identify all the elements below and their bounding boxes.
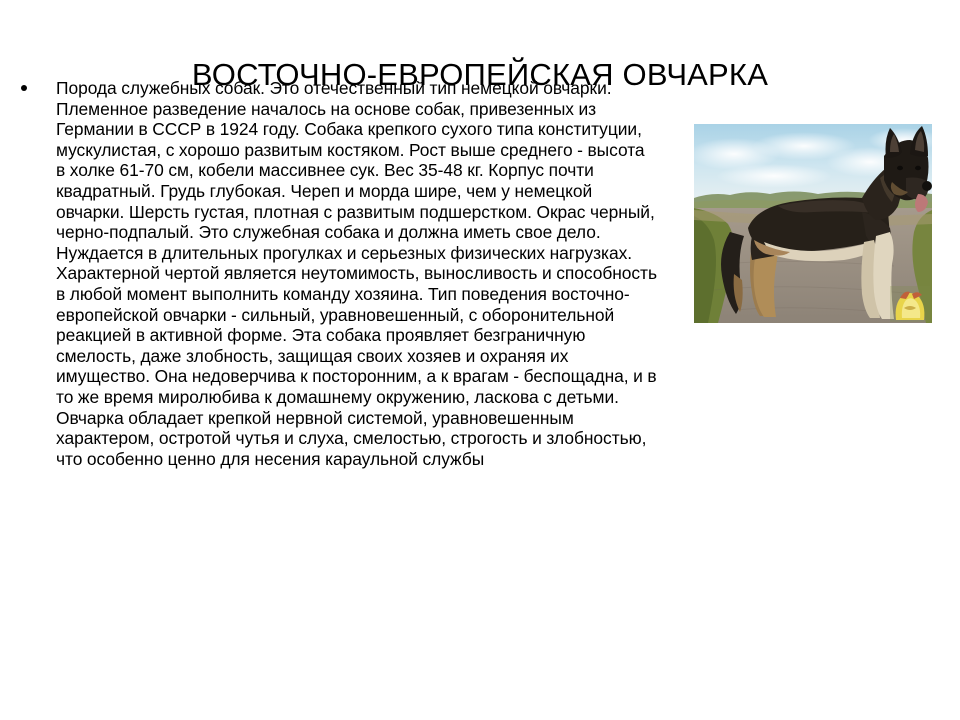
content-body: Порода служебных собак. Это отечественны… [18, 78, 658, 469]
slide: ВОСТОЧНО-ЕВРОПЕЙСКАЯ ОВЧАРКА Порода служ… [0, 0, 960, 720]
yellow-logo-watermark [890, 286, 930, 322]
dog-photo [694, 124, 932, 323]
breed-description-text: Порода служебных собак. Это отечественны… [56, 78, 658, 469]
dog-photo-illustration [694, 124, 932, 323]
list-item: Порода служебных собак. Это отечественны… [18, 78, 658, 469]
bullet-point-icon [21, 85, 27, 91]
